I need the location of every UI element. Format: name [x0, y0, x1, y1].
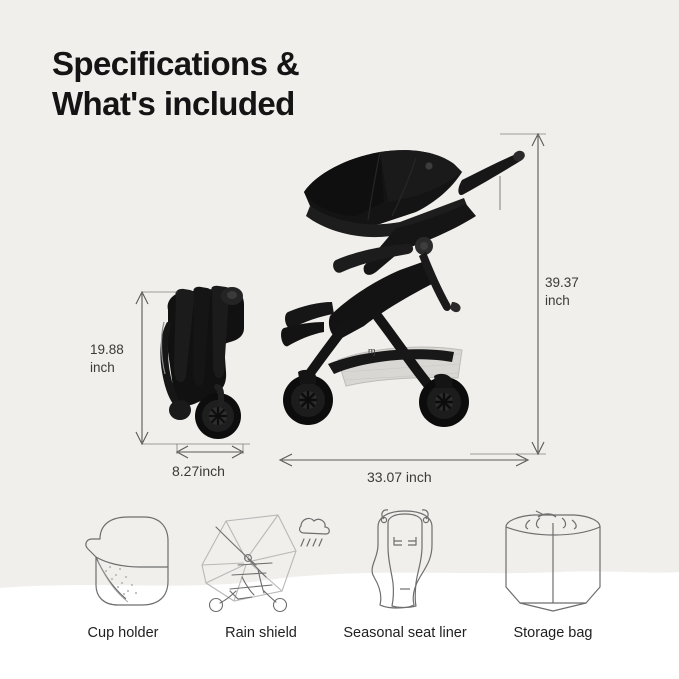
seat-liner-icon	[330, 505, 480, 617]
dimension-label-width-open: 33.07 inch	[367, 468, 432, 487]
accessory-label: Seasonal seat liner	[330, 625, 480, 641]
storage-bag-icon	[478, 505, 628, 617]
front-wheel	[283, 370, 333, 425]
accessory-item-rain-shield: Rain shield	[186, 505, 336, 665]
brand-mark: ɱ	[368, 346, 376, 356]
cup-holder-icon	[48, 505, 198, 617]
accessories-row: Cup holder	[0, 505, 679, 665]
accessory-label: Storage bag	[478, 625, 628, 641]
accessory-item-seat-liner: Seasonal seat liner	[330, 505, 480, 665]
specifications-page: Specifications & What's included	[0, 0, 679, 679]
accessory-item-cup-holder: Cup holder	[48, 505, 198, 665]
accessory-label: Cup holder	[48, 625, 198, 641]
dimension-label-width-folded: 8.27inch	[172, 462, 225, 481]
page-title: Specifications & What's included	[52, 44, 299, 125]
dimension-label-height-open: 39.37 inch	[545, 274, 579, 310]
open-stroller-image: ɱ	[276, 132, 536, 452]
dimension-label-height-folded: 19.88 inch	[90, 341, 124, 377]
rain-shield-icon	[186, 505, 336, 617]
accessory-item-storage-bag: Storage bag	[478, 505, 628, 665]
accessory-label: Rain shield	[186, 625, 336, 641]
folded-stroller-image	[150, 280, 270, 450]
